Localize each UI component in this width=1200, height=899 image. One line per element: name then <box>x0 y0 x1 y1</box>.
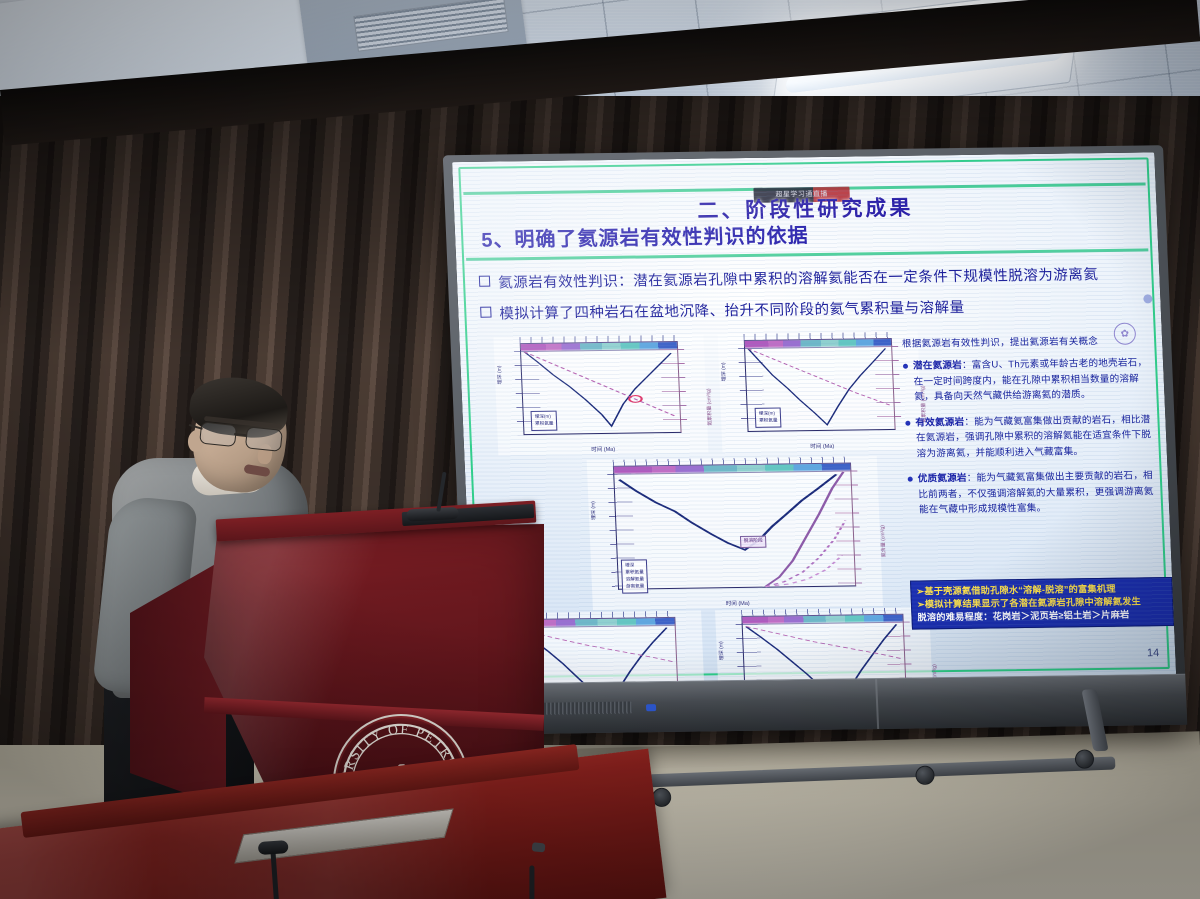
chart-bottom-right: 埋深(m) 累积氦量 埋深 (m) 氦累积量 (cm³/g) 时间 (Ma) <box>715 607 934 684</box>
slide-content: 超星学习通直播 二、阶段性研究成果 5、明确了氦源岩有效性判识的依据 氦源岩有效… <box>452 152 1176 684</box>
concept-3-term: 优质氦源岩 <box>918 473 967 485</box>
slide-right-text-column: 根据氦源岩有效性判识，提出氦源岩有关概念 潜在氦源岩：富含U、Th元素或年龄古老… <box>902 332 1160 528</box>
slide-decor-dot <box>1143 294 1152 303</box>
chart-y2-label: 氦含量 (cm³/g) <box>879 525 887 557</box>
chart-middle: 脱溶阶段 埋深 累积氦量 溶解氦量 游离氦量 埋深 (m) 氦含量 (cm³/g… <box>587 456 883 610</box>
slide-bullet-1: 氦源岩有效性判识：潜在氦源岩孔隙中累积的溶解氦能否在一定条件下规模性脱溶为游离氦 <box>479 263 1099 293</box>
chart-plot-area <box>742 621 908 685</box>
chart-y-label: 埋深 (m) <box>720 363 728 382</box>
slide-page-number: 14 <box>1147 647 1160 659</box>
round-bullet-icon <box>908 477 913 482</box>
conclusion-line-3: 脱溶的难易程度：花岗岩＞泥页岩≥铝土岩＞片麻岩 <box>917 608 1168 625</box>
chart-annotation: 脱溶阶段 <box>740 536 767 548</box>
display-panel: 超星学习通直播 二、阶段性研究成果 5、明确了氦源岩有效性判识的依据 氦源岩有效… <box>452 152 1176 684</box>
concept-3-text: 优质氦源岩：能为气藏氦富集做出主要贡献的岩石，相比前两者，不仅强调溶解氦的大量累… <box>917 468 1159 518</box>
concept-1-text: 潜在氦源岩：富含U、Th元素或年龄古老的地壳岩石，在一定时间跨度内，能在孔隙中累… <box>913 355 1155 405</box>
chart-plot-area <box>613 469 856 589</box>
chart-curves <box>743 621 907 685</box>
square-bullet-icon <box>479 276 490 287</box>
chart-legend: 埋深(m) 累积氦量 <box>755 408 782 428</box>
concept-item-2: 有效氦源岩：能为气藏氦富集做出贡献的岩石，相比潜在氦源岩，强调孔隙中累积的溶解氦… <box>905 412 1157 462</box>
chart-legend: 埋深 累积氦量 溶解氦量 游离氦量 <box>621 560 649 594</box>
chart-y-label: 埋深 (m) <box>589 501 597 520</box>
concept-item-1: 潜在氦源岩：富含U、Th元素或年龄古老的地壳岩石，在一定时间跨度内，能在孔隙中累… <box>903 355 1155 405</box>
microphone-gooseneck <box>529 865 534 899</box>
presentation-room-photo: 超星学习通直播 二、阶段性研究成果 5、明确了氦源岩有效性判识的依据 氦源岩有效… <box>0 0 1200 899</box>
table-microphone-left[interactable] <box>245 776 300 855</box>
chart-legend: 埋深(m) 累积氦量 <box>531 411 558 431</box>
slide-bullet-2: 模拟计算了四种岩石在盆地沉降、抬升不同阶段的氦气累积量与溶解量 <box>480 296 965 324</box>
stand-caster <box>915 765 935 785</box>
display-ir-sensor <box>646 704 656 711</box>
slide-bullet-1-text: 氦源岩有效性判识：潜在氦源岩孔隙中累积的溶解氦能否在一定条件下规模性脱溶为游离氦 <box>498 267 1099 291</box>
chart-top-left: 埋深(m) 累积氦量 埋深 (m) 氦累积量 (cm³/g) 时间 (Ma) <box>493 335 708 456</box>
presentation-display[interactable]: 超星学习通直播 二、阶段性研究成果 5、明确了氦源岩有效性判识的依据 氦源岩有效… <box>443 145 1187 735</box>
conclusion-box: ➢基于壳源氦借助孔隙水“溶解-脱溶”的富集机理 ➢模拟计算结果显示了各潜在氦源岩… <box>910 577 1174 630</box>
chart-curves <box>614 469 855 588</box>
chart-y2-label: 氦累积量 (cm³/g) <box>705 389 714 426</box>
chart-legend-item: 累积氦量 <box>535 421 554 428</box>
table-microphone-right[interactable] <box>505 797 575 899</box>
concept-item-3: 优质氦源岩：能为气藏氦富集做出主要贡献的岩石，相比前两者，不仅强调溶解氦的大量累… <box>907 468 1159 518</box>
foreground-table <box>0 770 640 899</box>
slide-bullet-2-text: 模拟计算了四种岩石在盆地沉降、抬升不同阶段的氦气累积量与溶解量 <box>499 300 965 322</box>
microphone-base <box>258 840 289 855</box>
round-bullet-icon <box>903 364 908 369</box>
square-bullet-icon <box>480 307 491 318</box>
chart-legend-item: 累积氦量 <box>759 418 778 425</box>
glasses-lens-left <box>199 421 237 447</box>
concept-2-text: 有效氦源岩：能为气藏氦富集做出贡献的岩石，相比潜在氦源岩，强调孔隙中累积的溶解氦… <box>915 412 1157 462</box>
chart-top-right: 埋深(m) 累积氦量 埋深 (m) 氦累积量 (cm³/g) 时间 (Ma) <box>717 332 922 453</box>
microphone-connector <box>532 842 546 852</box>
round-bullet-icon <box>905 420 910 425</box>
glasses-lens-right <box>245 426 283 452</box>
slide-heading: 5、明确了氦源岩有效性判识的依据 <box>481 219 809 253</box>
chart-y-label: 埋深 (m) <box>717 641 725 660</box>
chart-x-label: 时间 (Ma) <box>593 597 883 609</box>
chart-x-label: 时间 (Ma) <box>722 441 922 452</box>
display-bezel: 超星学习通直播 二、阶段性研究成果 5、明确了氦源岩有效性判识的依据 氦源岩有效… <box>443 145 1187 735</box>
concept-2-term: 有效氦源岩 <box>915 417 964 429</box>
right-lead-text: 根据氦源岩有效性判识，提出氦源岩有关概念 <box>902 332 1153 349</box>
chart-legend-item: 游离氦量 <box>626 583 645 590</box>
podium-microphone[interactable] <box>405 484 469 521</box>
concept-1-term: 潜在氦源岩 <box>913 360 962 372</box>
chart-x-label: 时间 (Ma) <box>498 443 708 454</box>
chart-y-label: 埋深 (m) <box>496 366 504 385</box>
